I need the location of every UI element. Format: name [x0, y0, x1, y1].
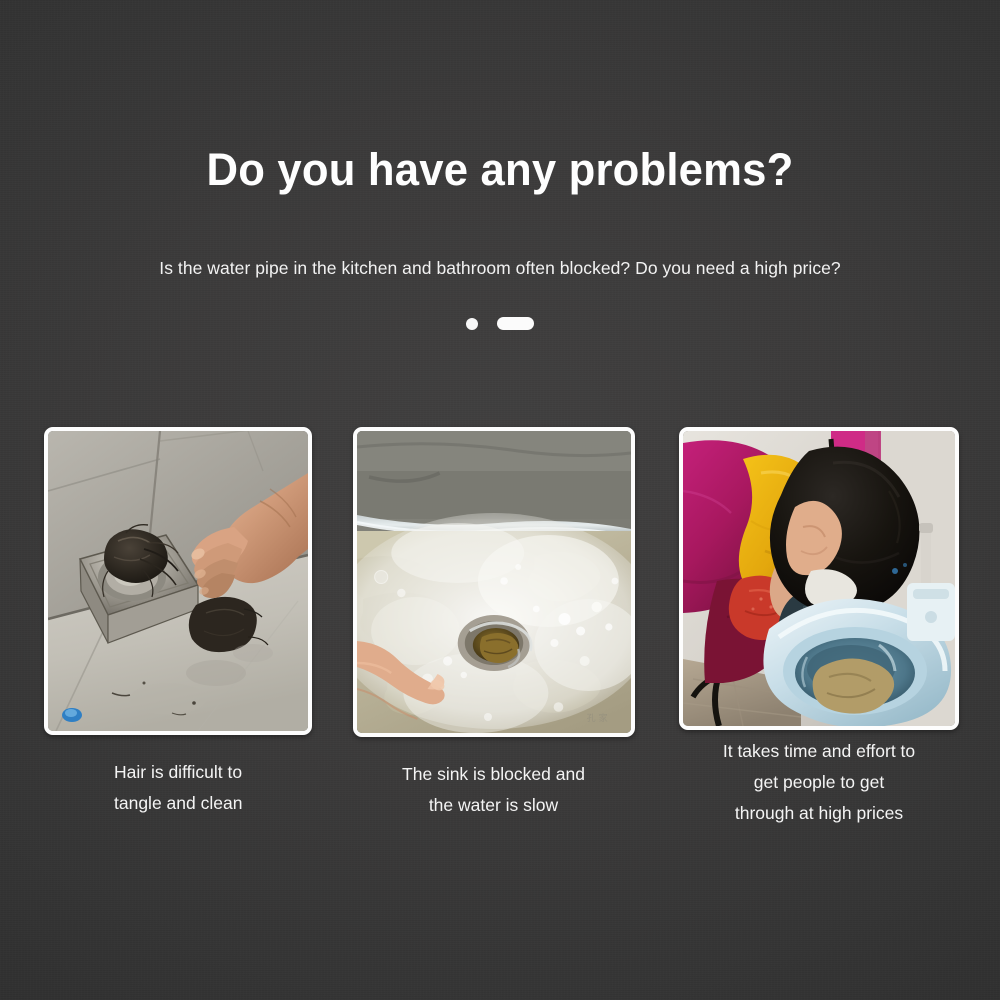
caption-line: It takes time and effort to [679, 736, 959, 767]
caption-line: Hair is difficult to [114, 757, 312, 788]
promo-banner: Do you have any problems? Is the water p… [0, 0, 1000, 1000]
blocked-sink-photo: 孔 家 [357, 431, 631, 733]
caption-line: through at high prices [679, 798, 959, 829]
blocked-sink-image-frame: 孔 家 [353, 427, 635, 737]
blocked-sink-caption: The sink is blocked and the water is slo… [353, 759, 635, 821]
problem-card-floor-drain[interactable]: Hair is difficult to tangle and clean [44, 427, 312, 819]
caption-line: the water is slow [353, 790, 635, 821]
carousel-dot-1[interactable] [466, 318, 478, 330]
toilet-plumber-caption: It takes time and effort to get people t… [679, 736, 959, 829]
problem-card-list: Hair is difficult to tangle and clean [44, 427, 959, 829]
page-title: Do you have any problems? [15, 146, 985, 193]
svg-text:孔 家: 孔 家 [586, 712, 607, 724]
floor-drain-image-frame [44, 427, 312, 735]
problem-card-blocked-sink[interactable]: 孔 家 The sink is blocked and the water is… [353, 427, 635, 821]
caption-line: get people to get [679, 767, 959, 798]
floor-drain-caption: Hair is difficult to tangle and clean [44, 757, 312, 819]
toilet-plumber-image-frame [679, 427, 959, 730]
carousel-dot-2-active[interactable] [497, 317, 534, 330]
toilet-plumber-photo [683, 431, 955, 726]
carousel-indicators [0, 317, 1000, 330]
caption-line: The sink is blocked and [353, 759, 635, 790]
floor-drain-photo [48, 431, 308, 731]
problem-card-toilet-plumber[interactable]: It takes time and effort to get people t… [679, 427, 959, 829]
caption-line: tangle and clean [114, 788, 312, 819]
page-subtitle: Is the water pipe in the kitchen and bat… [0, 258, 1000, 279]
